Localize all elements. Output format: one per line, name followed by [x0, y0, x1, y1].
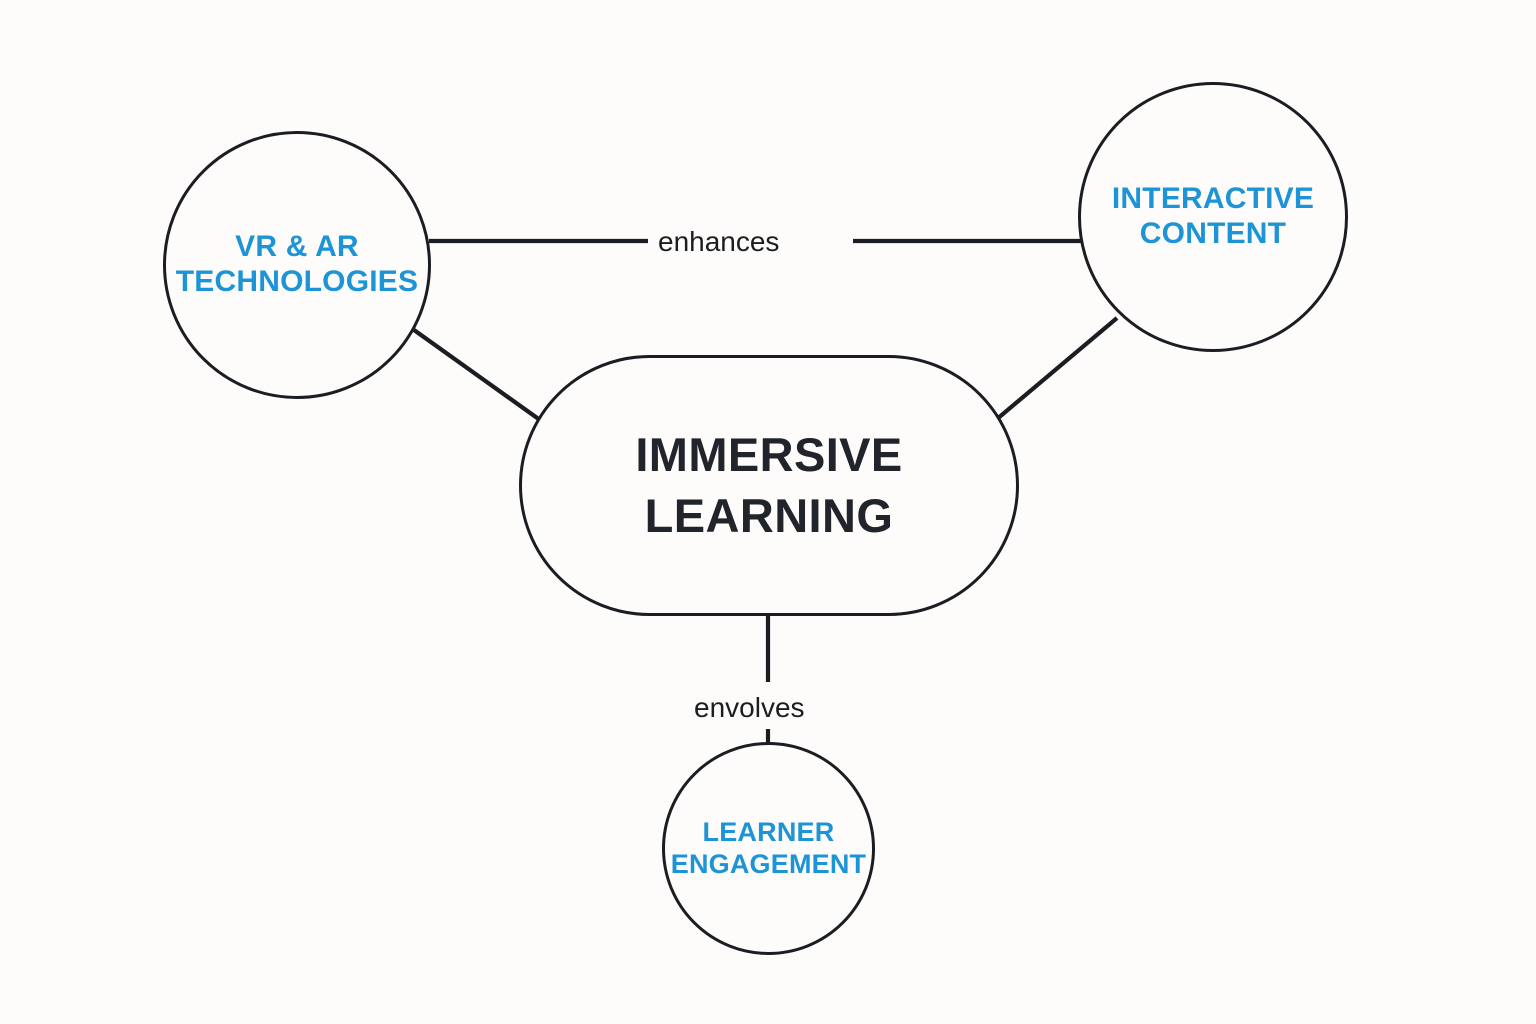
edge-interactive-content-to-immersive-learning: [997, 318, 1117, 419]
node-interactive-content-label: INTERACTIVE CONTENT: [1112, 182, 1314, 252]
node-interactive-content[interactable]: INTERACTIVE CONTENT: [1078, 82, 1348, 352]
edge-label-enhances: enhances: [648, 224, 789, 260]
node-vr-ar-technologies[interactable]: VR & AR TECHNOLOGIES: [163, 131, 431, 399]
edge-vr-ar-to-immersive-learning: [414, 330, 540, 420]
concept-map-diagram: VR & AR TECHNOLOGIES INTERACTIVE CONTENT…: [0, 0, 1536, 1024]
node-vr-ar-technologies-label: VR & AR TECHNOLOGIES: [176, 230, 418, 300]
node-immersive-learning[interactable]: IMMERSIVE LEARNING: [519, 355, 1019, 616]
node-immersive-learning-label: IMMERSIVE LEARNING: [635, 425, 902, 545]
node-learner-engagement[interactable]: LEARNER ENGAGEMENT: [662, 742, 875, 955]
edge-label-envolves: envolves: [684, 690, 815, 726]
node-learner-engagement-label: LEARNER ENGAGEMENT: [671, 817, 867, 880]
